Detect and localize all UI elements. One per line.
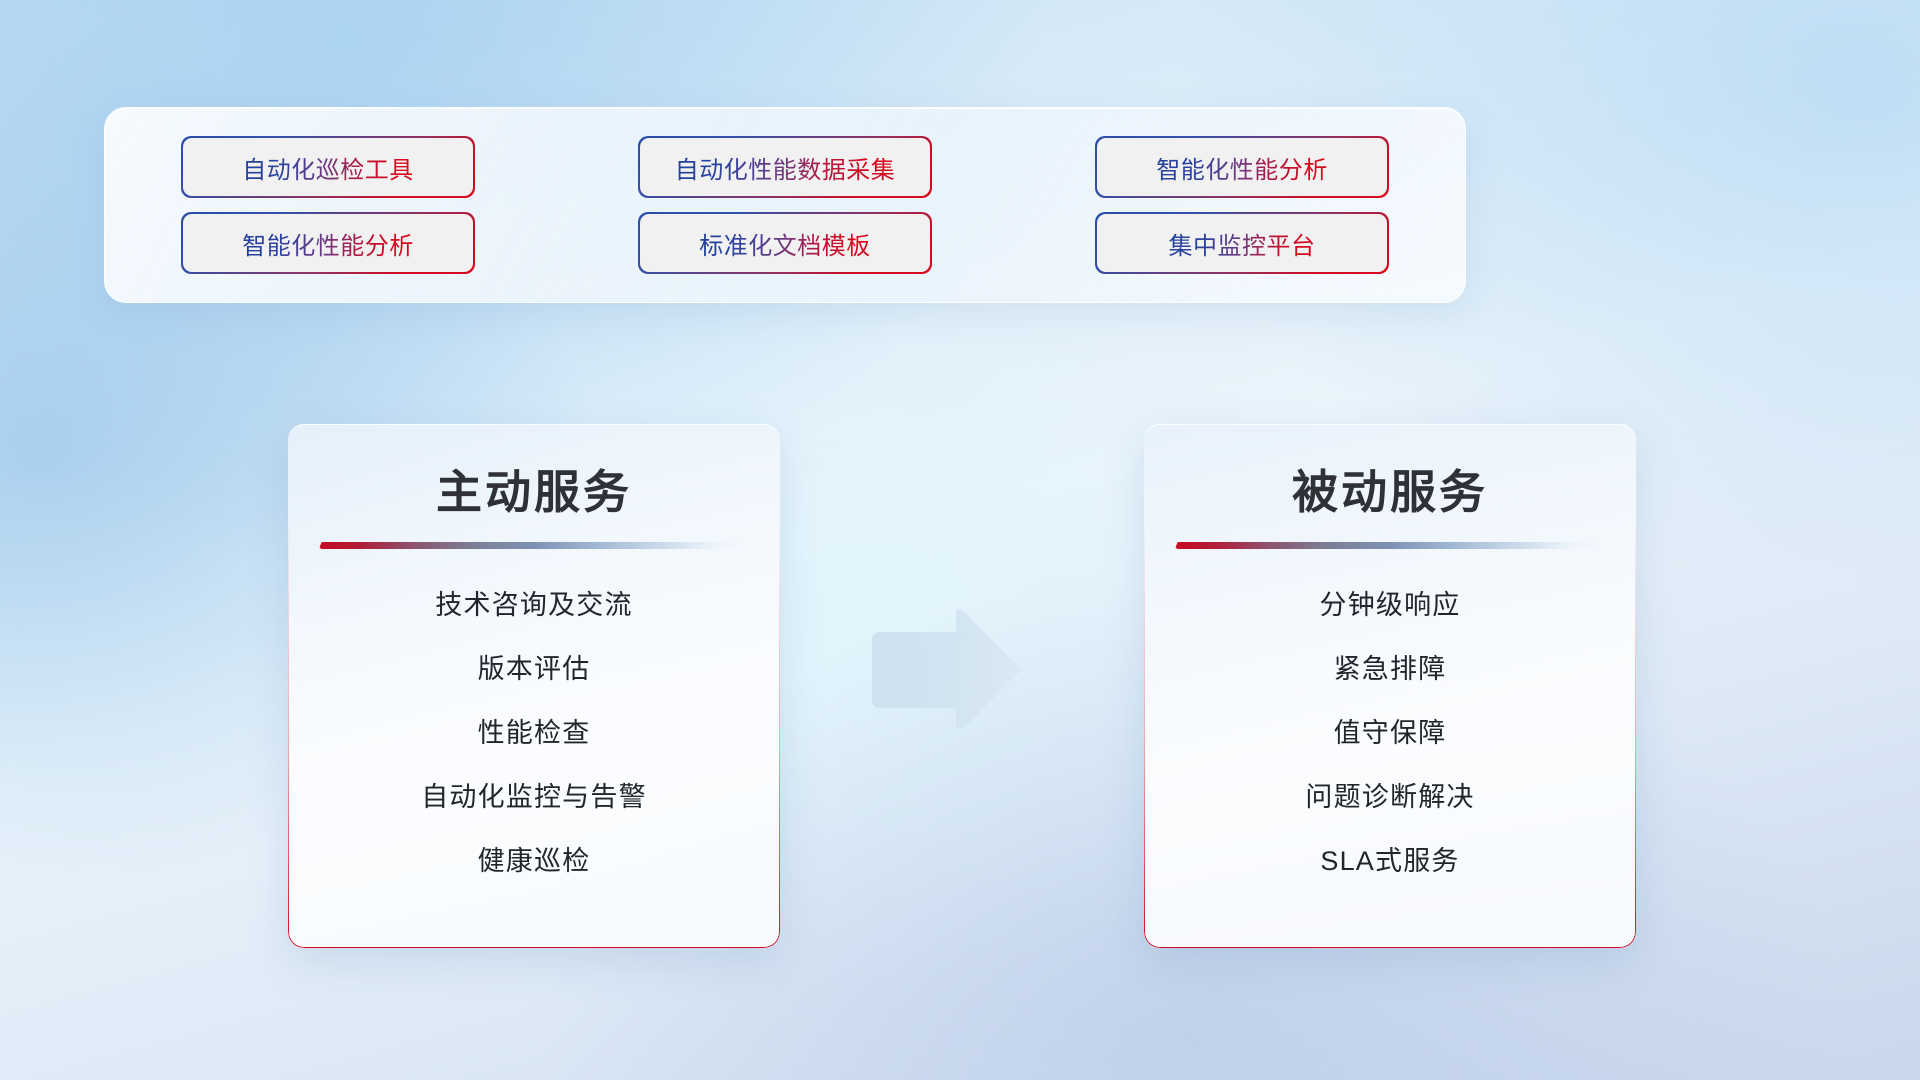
list-item: 健康巡检: [478, 839, 591, 878]
capability-pill-automated-inspection-tool[interactable]: 自动化巡检工具: [183, 138, 473, 196]
capability-pill-label: 智能化性能分析: [1156, 150, 1328, 185]
card-item-list: 技术咨询及交流 版本评估 性能检查 自动化监控与告警 健康巡检: [288, 583, 780, 878]
capability-pill-label: 自动化巡检工具: [242, 150, 414, 185]
list-item: 值守保障: [1334, 711, 1447, 750]
card-title: 主动服务: [288, 456, 780, 522]
list-item: SLA式服务: [1320, 839, 1459, 878]
list-item: 性能检查: [478, 711, 591, 750]
capabilities-panel: 自动化巡检工具 自动化性能数据采集 智能化性能分析 智能化性能分析 标准化文档模…: [104, 107, 1466, 303]
capability-pill-intelligent-performance-analysis-2[interactable]: 智能化性能分析: [183, 214, 473, 272]
capabilities-row-1: 自动化巡检工具 自动化性能数据采集 智能化性能分析: [183, 138, 1387, 196]
card-divider: [1175, 542, 1605, 549]
card-item-list: 分钟级响应 紧急排障 值守保障 问题诊断解决 SLA式服务: [1144, 583, 1636, 878]
capability-pill-automated-performance-data-collection[interactable]: 自动化性能数据采集: [640, 138, 930, 196]
capability-pill-label: 自动化性能数据采集: [675, 150, 896, 185]
service-card-reactive: 被动服务 分钟级响应 紧急排障 值守保障 问题诊断解决 SLA式服务: [1144, 424, 1636, 948]
capability-pill-centralized-monitoring-platform[interactable]: 集中监控平台: [1097, 214, 1387, 272]
list-item: 紧急排障: [1334, 647, 1447, 686]
capabilities-row-2: 智能化性能分析 标准化文档模板 集中监控平台: [183, 214, 1387, 272]
list-item: 自动化监控与告警: [421, 775, 647, 814]
list-item: 问题诊断解决: [1305, 775, 1474, 814]
capability-pill-standardized-doc-template[interactable]: 标准化文档模板: [640, 214, 930, 272]
service-card-proactive: 主动服务 技术咨询及交流 版本评估 性能检查 自动化监控与告警 健康巡检: [288, 424, 780, 948]
list-item: 版本评估: [478, 647, 591, 686]
capability-pill-intelligent-performance-analysis[interactable]: 智能化性能分析: [1097, 138, 1387, 196]
card-title: 被动服务: [1144, 456, 1636, 522]
capability-pill-label: 智能化性能分析: [242, 226, 414, 261]
card-divider: [319, 542, 749, 549]
arrow-right-icon: [866, 608, 1024, 728]
list-item: 分钟级响应: [1320, 583, 1461, 622]
capability-pill-label: 标准化文档模板: [699, 226, 871, 261]
capability-pill-label: 集中监控平台: [1169, 226, 1316, 261]
list-item: 技术咨询及交流: [435, 583, 632, 622]
